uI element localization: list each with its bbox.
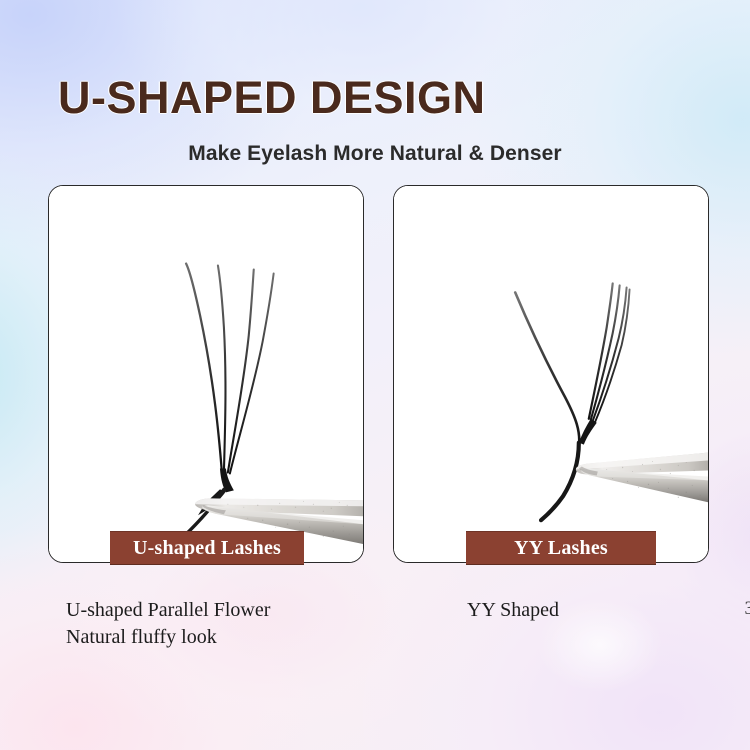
card-label-yy: YY Lashes bbox=[466, 531, 656, 565]
card-label-yy-text: YY Lashes bbox=[514, 537, 608, 560]
u-shaped-lash-photo bbox=[49, 186, 363, 562]
yy-lash-photo bbox=[394, 186, 708, 562]
card-caption-u-shaped: U-shaped Parallel Flower Natural fluffy … bbox=[66, 597, 270, 650]
page-subtitle: Make Eyelash More Natural & Denser bbox=[0, 142, 750, 166]
yy-lash-illustration bbox=[394, 186, 708, 562]
u-shaped-lash-illustration bbox=[49, 186, 363, 562]
card-label-u-shaped: U-shaped Lashes bbox=[110, 531, 304, 565]
card-label-u-shaped-text: U-shaped Lashes bbox=[133, 537, 281, 560]
product-card-yy bbox=[393, 185, 709, 563]
page-title: U-SHAPED DESIGN bbox=[58, 72, 486, 124]
product-card-u-shaped bbox=[48, 185, 364, 563]
product-infographic-page: U-SHAPED DESIGN Make Eyelash More Natura… bbox=[0, 0, 750, 750]
edge-page-number: 3 bbox=[745, 598, 750, 620]
card-caption-yy: YY Shaped bbox=[467, 597, 559, 624]
